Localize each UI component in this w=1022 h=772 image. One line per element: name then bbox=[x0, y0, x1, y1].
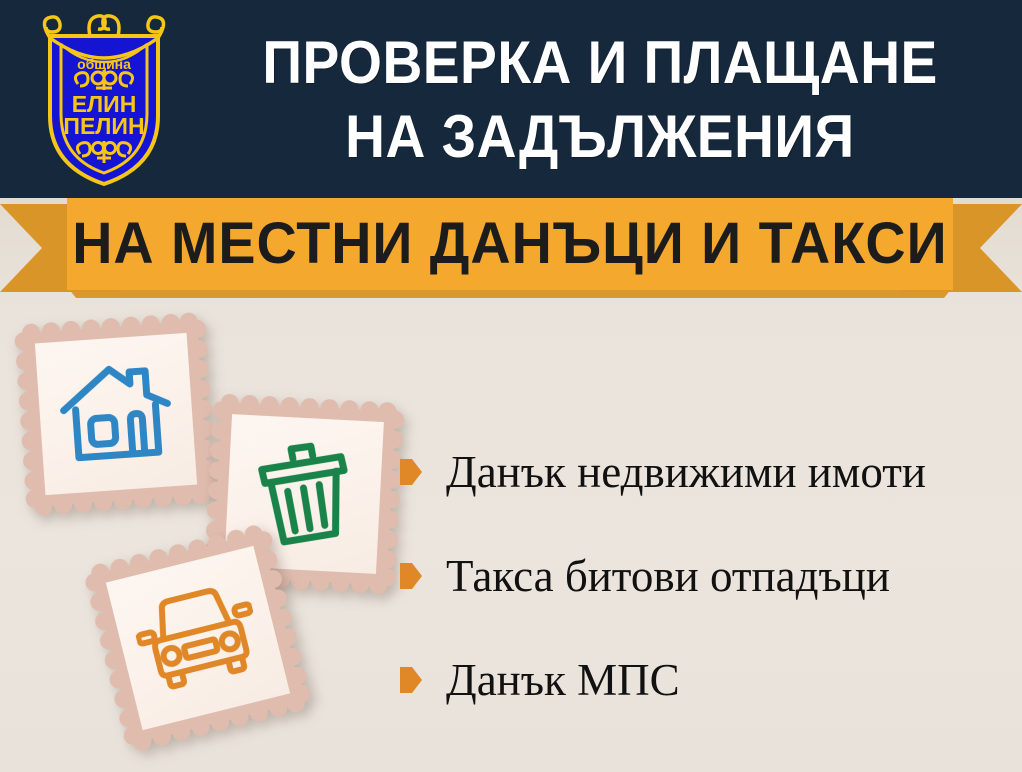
list-item[interactable]: Данък недвижими имоти bbox=[400, 420, 1010, 524]
stamp-property-tax bbox=[11, 309, 220, 518]
list-item-label: Данък недвижими имоти bbox=[446, 446, 926, 498]
house-icon-wrap bbox=[35, 333, 197, 495]
header-banner: община ЕЛИН ПЕЛИН ПРОВЕРКА И ПЛАЩАНЕ НА … bbox=[0, 0, 1022, 198]
page-title-line-1: ПРОВЕРКА И ПЛАЩАНЕ bbox=[262, 26, 937, 100]
list-item-label: Такса битови отпадъци bbox=[446, 550, 890, 602]
page-title: ПРОВЕРКА И ПЛАЩАНЕ НА ЗАДЪЛЖЕНИЯ bbox=[190, 14, 1010, 186]
tax-type-list: Данък недвижими имоти Такса битови отпад… bbox=[400, 420, 1010, 732]
arrow-right-icon bbox=[400, 459, 422, 485]
municipality-coat-of-arms: община ЕЛИН ПЕЛИН bbox=[28, 8, 180, 190]
page-title-line-2: НА ЗАДЪЛЖЕНИЯ bbox=[345, 100, 855, 174]
ribbon-banner: НА МЕСТНИ ДАНЪЦИ И ТАКСИ bbox=[67, 198, 953, 290]
car-icon bbox=[127, 572, 269, 704]
arrow-right-icon bbox=[400, 563, 422, 589]
list-item[interactable]: Такса битови отпадъци bbox=[400, 524, 1010, 628]
house-icon bbox=[52, 355, 179, 473]
poster-root: община ЕЛИН ПЕЛИН ПРОВЕРКА И ПЛАЩАНЕ НА … bbox=[0, 0, 1022, 772]
subtitle-ribbon: НА МЕСТНИ ДАНЪЦИ И ТАКСИ bbox=[0, 196, 1022, 306]
emblem-label-top: община bbox=[77, 56, 131, 72]
coat-of-arms-icon: община ЕЛИН ПЕЛИН bbox=[28, 8, 180, 190]
arrow-right-icon bbox=[400, 667, 422, 693]
emblem-name-line2: ПЕЛИН bbox=[63, 113, 144, 139]
list-item[interactable]: Данък МПС bbox=[400, 628, 1010, 732]
list-item-label: Данък МПС bbox=[446, 654, 680, 706]
ribbon-label: НА МЕСТНИ ДАНЪЦИ И ТАКСИ bbox=[72, 215, 947, 273]
